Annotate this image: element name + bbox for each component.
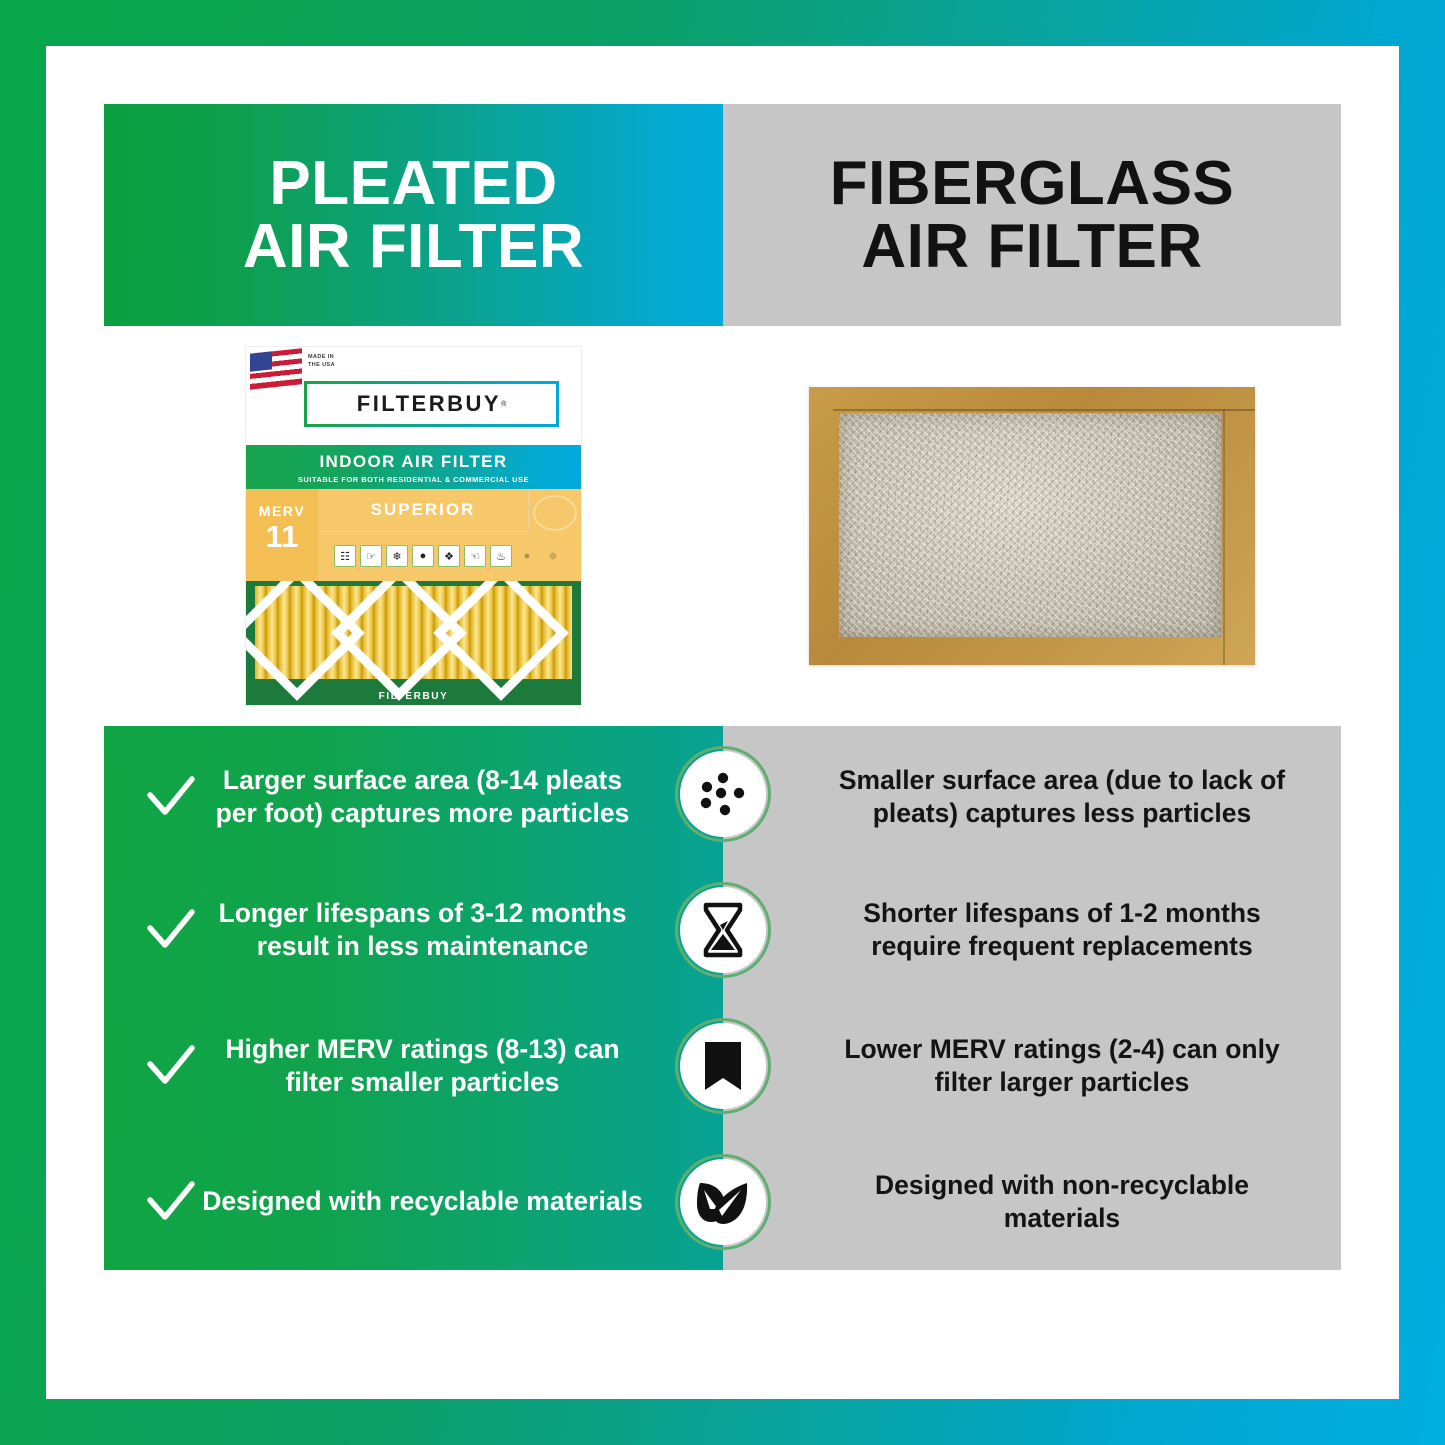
check-icon — [140, 775, 202, 819]
filterbuy-logo-text: FILTERBUY — [357, 391, 501, 417]
merv-label: MERV — [246, 503, 318, 519]
white-page: PLEATED AIR FILTER FIBERGLASS AIR FILTER — [46, 46, 1399, 1399]
row-right-fiberglass: Lower MERV ratings (2-4) can only filter… — [723, 998, 1341, 1134]
header-fiberglass-line1: FIBERGLASS — [830, 149, 1235, 218]
leaf-icon — [675, 1154, 771, 1250]
gradient-border-frame: PLEATED AIR FILTER FIBERGLASS AIR FILTER — [0, 0, 1445, 1445]
icon-disc — [680, 1159, 766, 1245]
insect-icon: ☞ — [360, 545, 382, 567]
icon-disc — [680, 887, 766, 973]
row-right-fiberglass: Designed with non-recyclable materials — [723, 1134, 1341, 1270]
frame-seam-right — [1223, 409, 1225, 665]
check-icon — [140, 1044, 202, 1088]
merv-badge: MERV 11 — [246, 489, 318, 581]
ul-certification-icon — [533, 495, 577, 531]
row-right-text: Shorter lifespans of 1-2 months require … — [819, 897, 1305, 964]
row-right-text: Smaller surface area (due to lack of ple… — [819, 764, 1305, 831]
fiberglass-filter-product-image — [809, 387, 1255, 665]
hourglass-icon — [675, 882, 771, 978]
product-image-row: MADE IN THE USA FILTERBUY® INDOOR AIR FI… — [104, 326, 1341, 726]
row-left-text: Longer lifespans of 3-12 months result i… — [202, 897, 705, 964]
merv-value: 11 — [246, 521, 318, 552]
table-row: Larger surface area (8-14 pleats per foo… — [104, 726, 1341, 862]
header-row: PLEATED AIR FILTER FIBERGLASS AIR FILTER — [104, 104, 1341, 326]
pleated-media: FILTERBUY — [246, 581, 581, 705]
pollen-icon: ❄ — [386, 545, 408, 567]
product-cell-pleated: MADE IN THE USA FILTERBUY® INDOOR AIR FI… — [104, 347, 723, 705]
icon-disc — [680, 1023, 766, 1109]
row-left-pleated: Larger surface area (8-14 pleats per foo… — [104, 726, 723, 862]
registered-mark: ® — [501, 401, 506, 408]
bookmark-icon — [675, 1018, 771, 1114]
row-left-pleated: Longer lifespans of 3-12 months result i… — [104, 862, 723, 998]
pleated-filter-product-image: MADE IN THE USA FILTERBUY® INDOOR AIR FI… — [246, 347, 581, 705]
header-pleated-line2: AIR FILTER — [243, 212, 584, 281]
header-fiberglass-line2: AIR FILTER — [861, 212, 1202, 281]
band-subtitle: SUITABLE FOR BOTH RESIDENTIAL & COMMERCI… — [246, 475, 581, 484]
row-left-text: Higher MERV ratings (8-13) can filter sm… — [202, 1033, 705, 1100]
comparison-infographic: PLEATED AIR FILTER FIBERGLASS AIR FILTER — [104, 104, 1341, 1347]
filter-footer-brand: FILTERBUY — [246, 691, 581, 702]
row-left-pleated: Higher MERV ratings (8-13) can filter sm… — [104, 998, 723, 1134]
made-in-usa-text: MADE IN THE USA — [308, 353, 335, 370]
made-in-line2: THE USA — [308, 361, 335, 369]
row-left-text: Larger surface area (8-14 pleats per foo… — [202, 764, 705, 831]
indoor-air-filter-band: INDOOR AIR FILTER SUITABLE FOR BOTH RESI… — [246, 445, 581, 489]
dust-icon: ☷ — [334, 545, 356, 567]
table-row: Higher MERV ratings (8-13) can filter sm… — [104, 998, 1341, 1134]
diamond-support-grid — [255, 586, 572, 679]
made-in-line1: MADE IN — [308, 353, 335, 361]
row-right-text: Designed with non-recyclable materials — [819, 1169, 1305, 1236]
pet-dander-icon: ☜ — [464, 545, 486, 567]
header-pleated-line1: PLEATED — [269, 149, 557, 218]
check-icon — [140, 1180, 202, 1224]
smoke-icon: ♨ — [490, 545, 512, 567]
check-icon — [140, 908, 202, 952]
bacteria-icon: ❖ — [438, 545, 460, 567]
odor-icon-disabled: ● — [516, 545, 538, 567]
frame-seam-top — [833, 409, 1255, 411]
mold-icon: ● — [412, 545, 434, 567]
particles-icon — [675, 746, 771, 842]
table-row: Designed with recyclable materials Desig… — [104, 1134, 1341, 1270]
filterbuy-logo: FILTERBUY® — [304, 381, 559, 427]
merv-band: MERV 11 SUPERIOR ☷ ☞ ❄ ● ❖ ☜ — [246, 489, 581, 581]
usa-flag-icon — [250, 348, 302, 389]
table-row: Longer lifespans of 3-12 months result i… — [104, 862, 1341, 998]
header-pleated: PLEATED AIR FILTER — [104, 104, 723, 326]
row-right-fiberglass: Shorter lifespans of 1-2 months require … — [723, 862, 1341, 998]
header-fiberglass: FIBERGLASS AIR FILTER — [723, 104, 1341, 326]
row-left-pleated: Designed with recyclable materials — [104, 1134, 723, 1270]
grade-label: SUPERIOR — [318, 489, 529, 532]
filter-feature-icons: ☷ ☞ ❄ ● ❖ ☜ ♨ ● ✵ — [318, 531, 581, 581]
fiberglass-media — [839, 413, 1221, 637]
icon-disc — [680, 751, 766, 837]
row-right-fiberglass: Smaller surface area (due to lack of ple… — [723, 726, 1341, 862]
band-title: INDOOR AIR FILTER — [246, 452, 581, 472]
comparison-rows: Larger surface area (8-14 pleats per foo… — [104, 726, 1341, 1270]
virus-icon-disabled: ✵ — [542, 545, 564, 567]
row-left-text: Designed with recyclable materials — [202, 1185, 705, 1218]
product-cell-fiberglass — [723, 387, 1341, 665]
row-right-text: Lower MERV ratings (2-4) can only filter… — [819, 1033, 1305, 1100]
